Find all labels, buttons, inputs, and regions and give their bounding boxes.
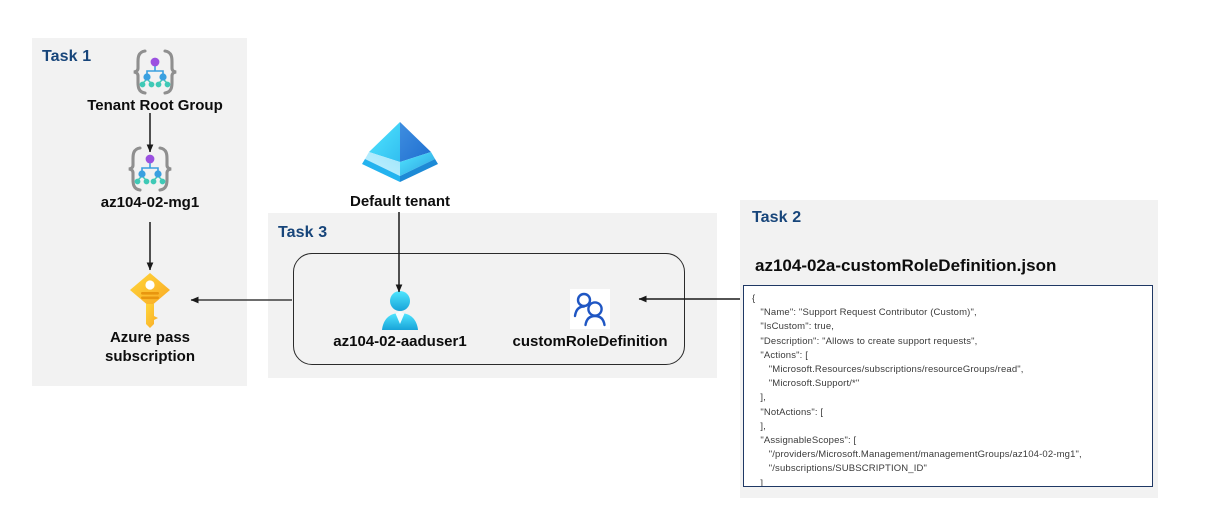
node-az104-02-mg1: az104-02-mg1 [60,145,240,212]
task-2-label: Task 2 [752,209,801,227]
user-icon [310,288,490,332]
node-az104-02-aaduser1: az104-02-aaduser1 [310,288,490,351]
node-caption: customRoleDefinition [500,332,680,351]
azure-ad-tenant-icon [310,118,490,192]
diagram-canvas: Task 1 Task 3 Task 2 Tenant Root Group [0,0,1212,522]
management-group-icon [65,48,245,96]
json-code-text: { "Name": "Support Request Contributor (… [752,292,1144,487]
node-default-tenant: Default tenant [310,118,490,211]
node-caption: Azure pass subscription [60,328,240,366]
node-custom-role-definition: customRoleDefinition [500,288,680,351]
json-content-box: { "Name": "Support Request Contributor (… [743,285,1153,487]
json-file-name: az104-02a-customRoleDefinition.json [755,256,1056,276]
key-icon [60,272,240,328]
custom-role-definition-icon [500,288,680,332]
node-caption: Default tenant [310,192,490,211]
node-azure-pass-subscription: Azure pass subscription [60,272,240,366]
node-caption: az104-02-aaduser1 [310,332,490,351]
management-group-icon [60,145,240,193]
node-caption: az104-02-mg1 [60,193,240,212]
node-caption: Tenant Root Group [65,96,245,115]
task-3-label: Task 3 [278,224,327,242]
node-tenant-root-group: Tenant Root Group [65,48,245,115]
